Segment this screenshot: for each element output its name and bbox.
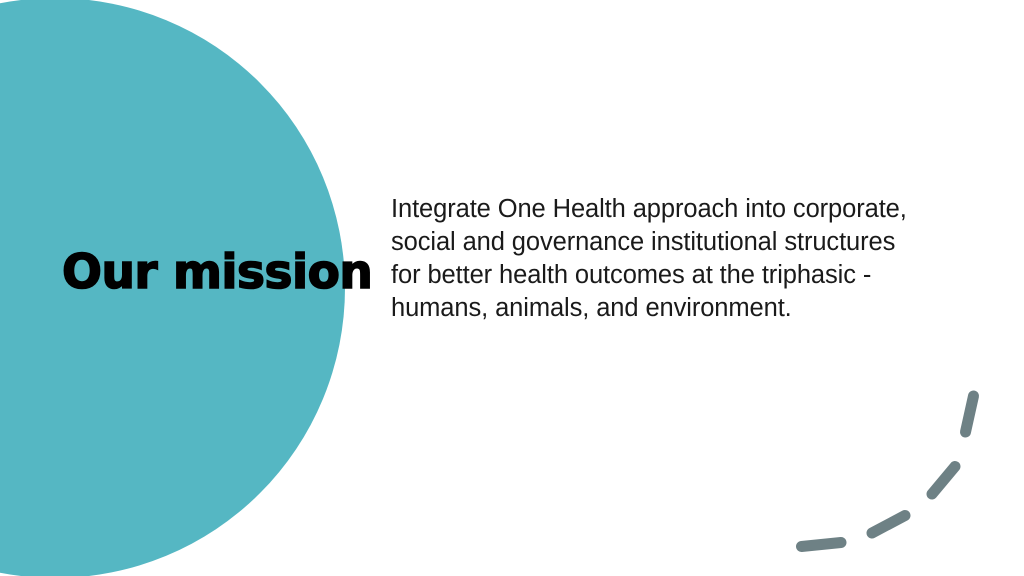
mission-statement-text: Integrate One Health approach into corpo… xyxy=(391,193,911,325)
arc-dash-4 xyxy=(802,543,842,547)
dashed-arc-decoration xyxy=(780,380,1024,576)
arc-dash-2 xyxy=(932,467,955,495)
arc-dash-3 xyxy=(872,516,905,534)
page-title: Our mission xyxy=(62,248,362,299)
arc-dash-1 xyxy=(966,396,974,432)
slide-canvas: Our mission Integrate One Health approac… xyxy=(0,0,1024,576)
body-text-block: Integrate One Health approach into corpo… xyxy=(391,193,911,325)
title-block: Our mission xyxy=(62,248,362,299)
